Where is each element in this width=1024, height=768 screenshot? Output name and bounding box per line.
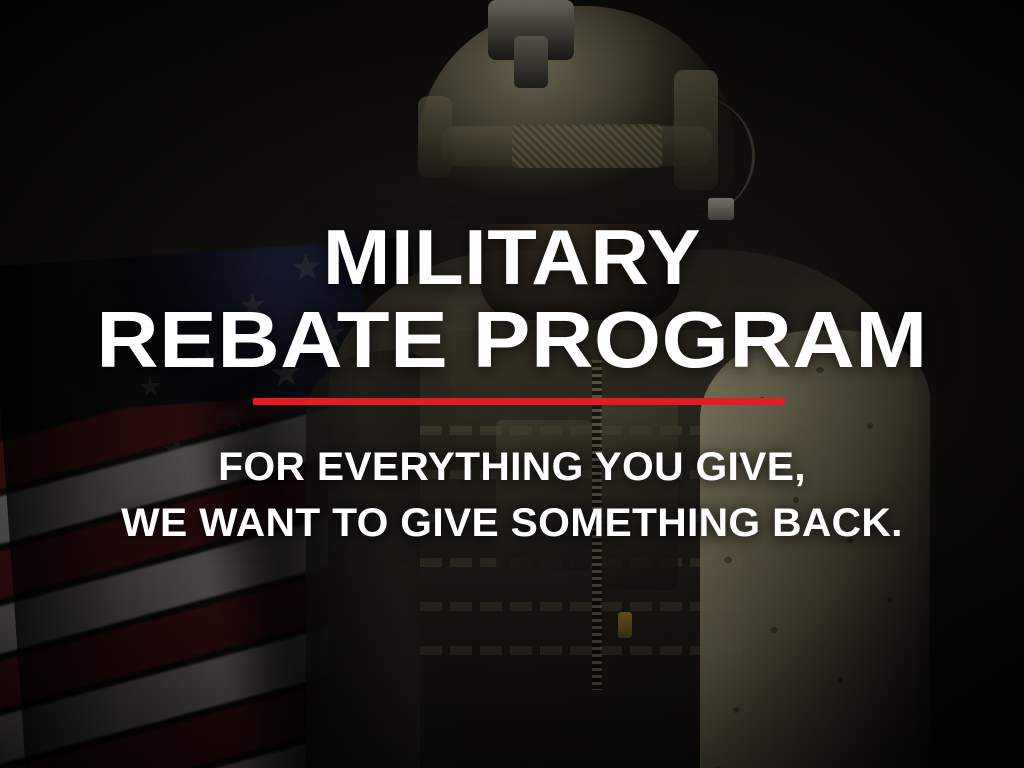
text-overlay: MILITARY REBATE PROGRAM FOR EVERYTHING Y… (0, 0, 1024, 768)
red-divider-rule (253, 398, 785, 405)
subheadline-line-2: WE WANT TO GIVE SOMETHING BACK. (0, 503, 1024, 543)
subheadline-line-1: FOR EVERYTHING YOU GIVE, (0, 447, 1024, 487)
headline-line-1: MILITARY (0, 218, 1024, 296)
headline-line-2: REBATE PROGRAM (0, 300, 1024, 380)
military-rebate-banner: MILITARY REBATE PROGRAM FOR EVERYTHING Y… (0, 0, 1024, 768)
